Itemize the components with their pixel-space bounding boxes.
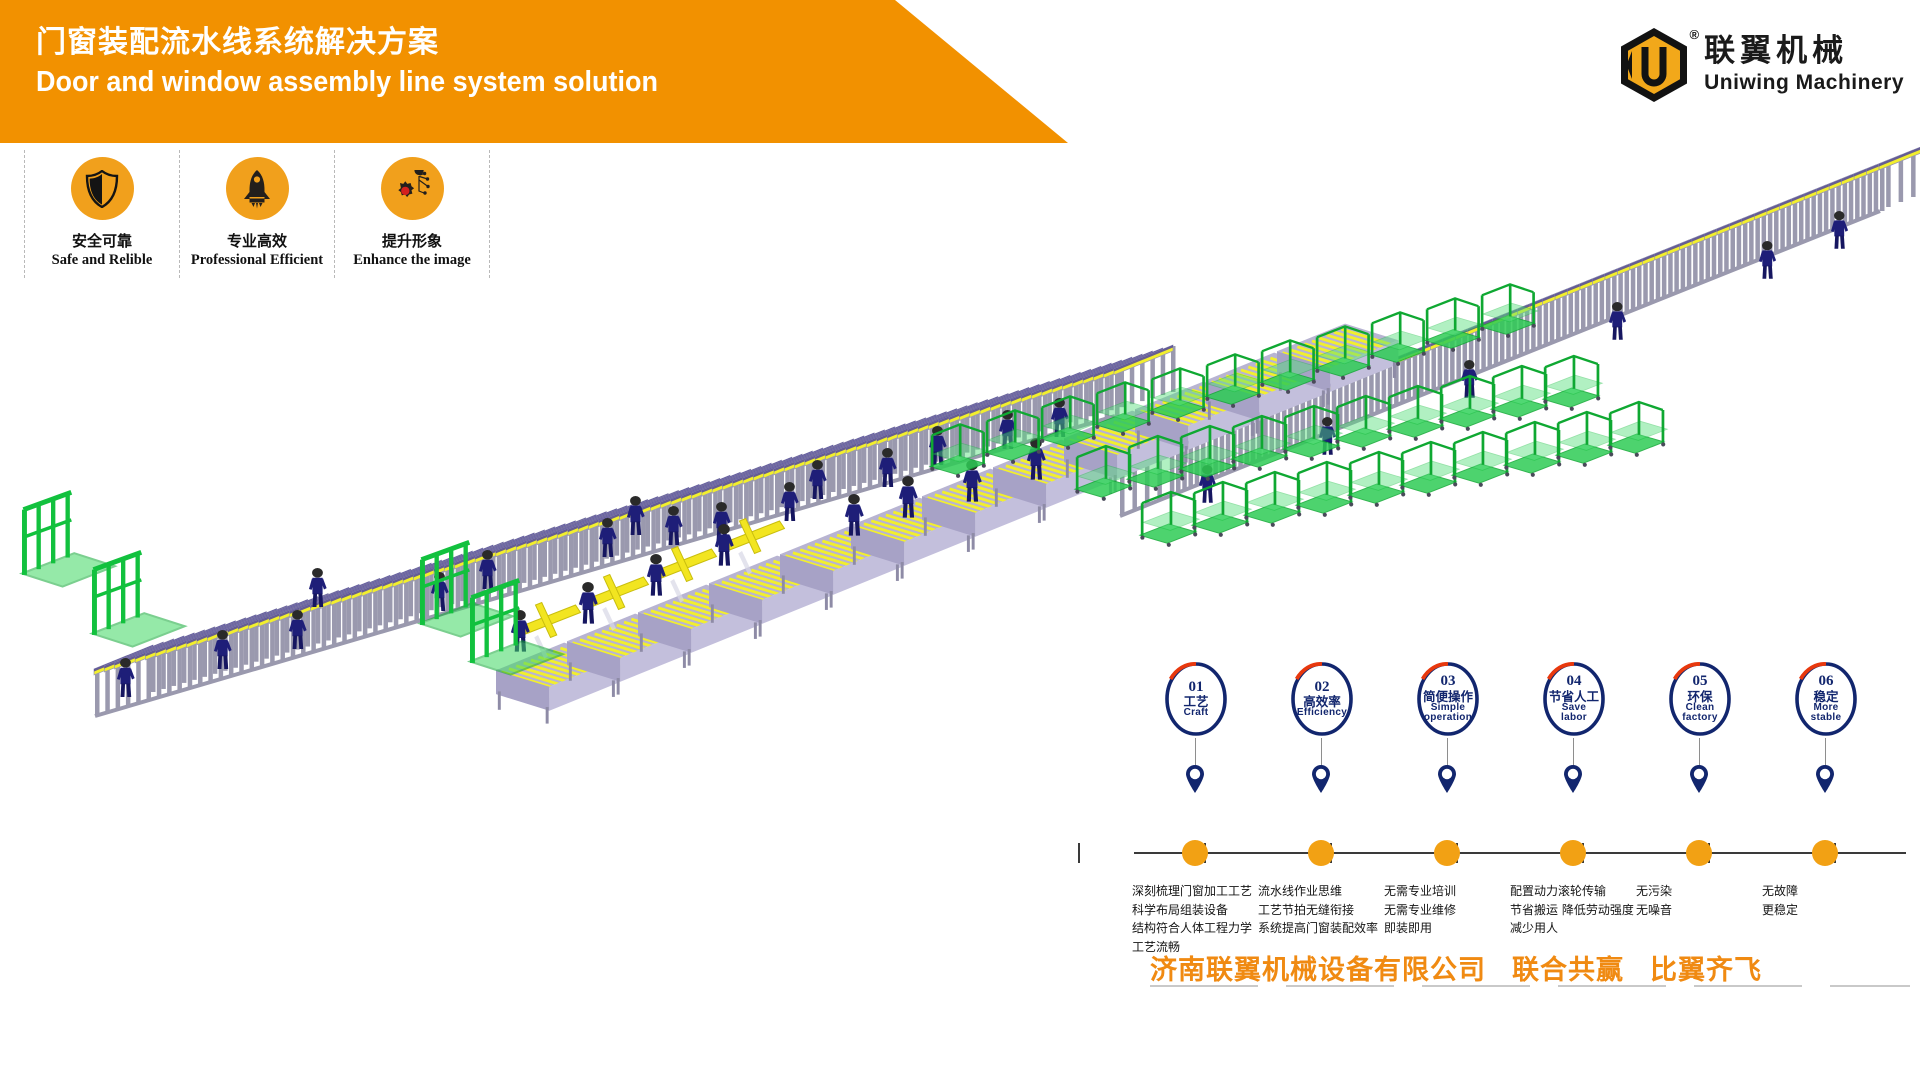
map-pin-icon — [1310, 764, 1332, 799]
timeline-label-en: Morestable — [1811, 703, 1842, 724]
footer-company-name: 济南联翼机械设备有限公司 — [1150, 955, 1486, 986]
timeline-number: 04 — [1567, 674, 1582, 690]
timeline-dot — [1812, 840, 1838, 866]
timeline-number: 06 — [1819, 674, 1834, 690]
brand-name-cn: 联翼机械 — [1704, 34, 1904, 68]
map-pin-icon — [1436, 764, 1458, 799]
timeline-label-en: Savelabor — [1561, 703, 1587, 724]
timeline-item-06[interactable]: 06稳定Morestable无故障更稳定 — [1762, 660, 1890, 738]
green-trolley — [1140, 492, 1199, 547]
footer-slogan-1: 联合共赢 — [1512, 955, 1624, 986]
timeline-label-en: Efficiency — [1297, 708, 1347, 718]
timeline-description: 无故障更稳定 — [1762, 882, 1912, 919]
timeline-ring-04: 04节省人工Savelabor — [1541, 660, 1607, 738]
map-pin-icon — [1814, 764, 1836, 799]
timeline-number: 01 — [1189, 680, 1204, 696]
timeline-dot — [1560, 840, 1586, 866]
footer-slogan: 济南联翼机械设备有限公司联合共赢比翼齐飞 — [1150, 948, 1762, 987]
brand-name-group: 联翼机械 Uniwing Machinery — [1704, 34, 1904, 96]
feature-item-safe: 安全可靠 Safe and Relible — [24, 150, 180, 278]
header-title-group: 门窗装配流水线系统解决方案 Door and window assembly l… — [36, 26, 705, 99]
green-trolley — [1608, 402, 1667, 457]
benefits-timeline: 01工艺Craft深刻梳理门窗加工工艺科学布局组装设备结构符合人体工程力学工艺流… — [1128, 660, 1918, 950]
timeline-number: 03 — [1441, 674, 1456, 690]
worker-figure — [579, 582, 598, 624]
green-trolley — [1192, 482, 1251, 537]
timeline-dot — [1308, 840, 1334, 866]
page-title-en: Door and window assembly line system sol… — [36, 65, 658, 100]
timeline-dot — [1182, 840, 1208, 866]
gear-circuit-icon — [381, 157, 444, 220]
feature-label-cn: 安全可靠 — [72, 230, 132, 251]
green-trolley — [1400, 442, 1459, 497]
green-trolley — [1491, 366, 1550, 421]
timeline-item-05[interactable]: 05环保Cleanfactory无污染无噪音 — [1636, 660, 1764, 738]
timeline-label-cn: 简便操作 — [1423, 690, 1473, 703]
green-trolley — [1452, 432, 1511, 487]
feature-label-en: Professional Efficient — [191, 252, 323, 269]
map-pin-icon — [1184, 764, 1206, 799]
rocket-icon — [226, 157, 289, 220]
feature-label-en: Safe and Relible — [52, 252, 153, 269]
timeline-ring-02: 02高效率Efficiency — [1289, 660, 1355, 738]
timeline-axis-line — [1134, 852, 1906, 854]
timeline-item-04[interactable]: 04节省人工Savelabor配置动力滚轮传输节省搬运 降低劳动强度减少用人 — [1510, 660, 1638, 738]
map-pin-icon — [1562, 764, 1584, 799]
timeline-ring-06: 06稳定Morestable — [1793, 660, 1859, 738]
flat-rack — [92, 552, 185, 646]
feature-item-image: 提升形象 Enhance the image — [335, 150, 490, 278]
timeline-label-cn: 节省人工 — [1549, 690, 1599, 703]
green-trolley — [1556, 412, 1615, 467]
worker-figure — [1759, 241, 1776, 279]
timeline-dot — [1686, 840, 1712, 866]
feature-label-cn: 专业高效 — [227, 230, 287, 251]
registered-trademark-icon: ® — [1690, 27, 1700, 42]
page-title-cn: 门窗装配流水线系统解决方案 — [36, 26, 705, 61]
timeline-label-cn: 环保 — [1687, 690, 1712, 703]
green-trolley — [1543, 356, 1602, 411]
feature-label-en: Enhance the image — [353, 252, 471, 269]
timeline-item-02[interactable]: 02高效率Efficiency流水线作业思维工艺节拍无缝衔接系统提高门窗装配效率 — [1258, 660, 1386, 738]
timeline-label-en: Craft — [1184, 708, 1209, 718]
green-trolley — [1296, 462, 1355, 517]
timeline-ring-01: 01工艺Craft — [1163, 660, 1229, 738]
brand-name-en: Uniwing Machinery — [1704, 70, 1904, 96]
map-pin-icon — [1688, 764, 1710, 799]
feature-label-cn: 提升形象 — [382, 230, 442, 251]
green-trolley — [1244, 472, 1303, 527]
timeline-item-01[interactable]: 01工艺Craft深刻梳理门窗加工工艺科学布局组装设备结构符合人体工程力学工艺流… — [1132, 660, 1260, 738]
timeline-number: 02 — [1315, 680, 1330, 696]
timeline-label-en: Cleanfactory — [1682, 703, 1717, 724]
footer-divider — [1150, 985, 1910, 987]
timeline-ring-05: 05环保Cleanfactory — [1667, 660, 1733, 738]
feature-item-professional: 专业高效 Professional Efficient — [180, 150, 335, 278]
timeline-item-03[interactable]: 03简便操作Simpleoperation无需专业培训无需专业维修即装即用 — [1384, 660, 1512, 738]
shield-icon — [71, 157, 134, 220]
worker-figure — [1609, 302, 1626, 340]
hexagon-u-logo-icon: ® — [1618, 26, 1690, 104]
footer-slogan-2: 比翼齐飞 — [1650, 955, 1762, 986]
timeline-label-cn: 稳定 — [1813, 690, 1838, 703]
worker-figure — [647, 554, 666, 596]
axis-tick — [1078, 843, 1080, 863]
timeline-ring-03: 03简便操作Simpleoperation — [1415, 660, 1481, 738]
green-trolley — [1348, 452, 1407, 507]
timeline-label-en: Simpleoperation — [1424, 703, 1472, 724]
green-trolley — [1504, 422, 1563, 477]
flat-rack — [22, 492, 115, 586]
timeline-dot — [1434, 840, 1460, 866]
feature-highlights: 安全可靠 Safe and Relible 专业高效 Professional … — [24, 150, 490, 278]
timeline-number: 05 — [1693, 674, 1708, 690]
brand-logo: ® 联翼机械 Uniwing Machinery — [1618, 26, 1904, 104]
